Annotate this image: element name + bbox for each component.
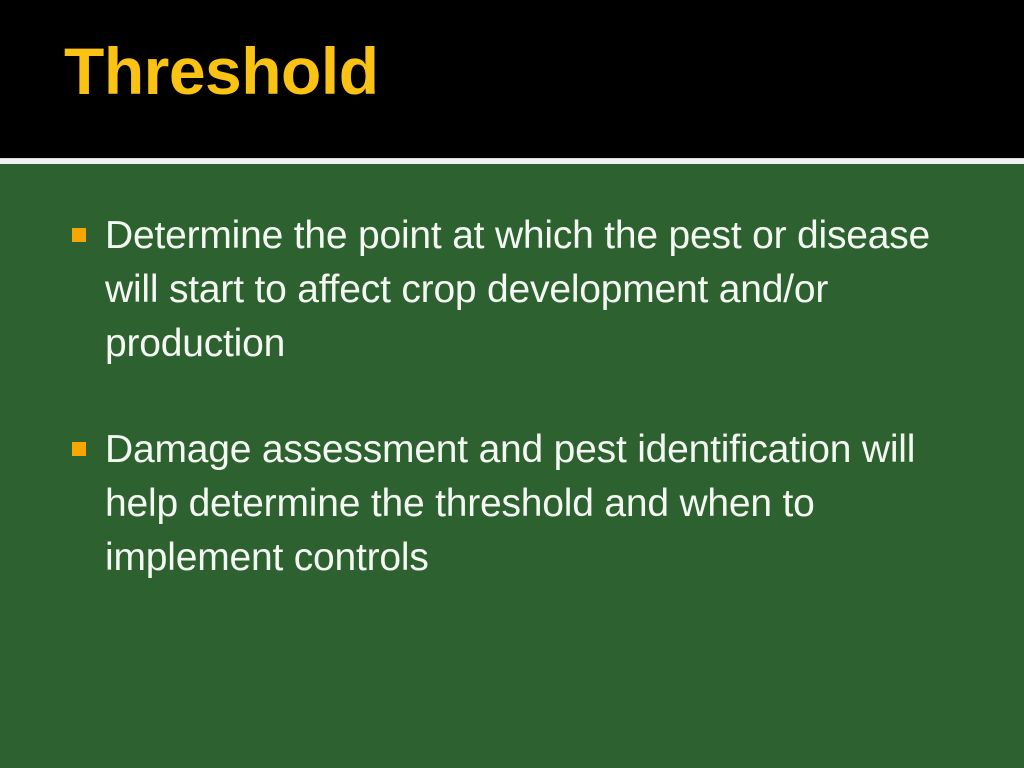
list-item: Damage assessment and pest identificatio… (64, 423, 964, 585)
presentation-slide: Threshold Determine the point at which t… (0, 0, 1024, 768)
slide-title: Threshold (64, 38, 379, 104)
bullet-text: Determine the point at which the pest or… (105, 209, 960, 371)
bullet-text: Damage assessment and pest identificatio… (105, 423, 960, 585)
slide-body: Determine the point at which the pest or… (0, 164, 1024, 768)
list-item: Determine the point at which the pest or… (64, 209, 964, 371)
title-band: Threshold (0, 0, 1024, 158)
square-bullet-icon (72, 442, 86, 456)
bullet-list: Determine the point at which the pest or… (64, 209, 964, 585)
square-bullet-icon (72, 228, 86, 242)
